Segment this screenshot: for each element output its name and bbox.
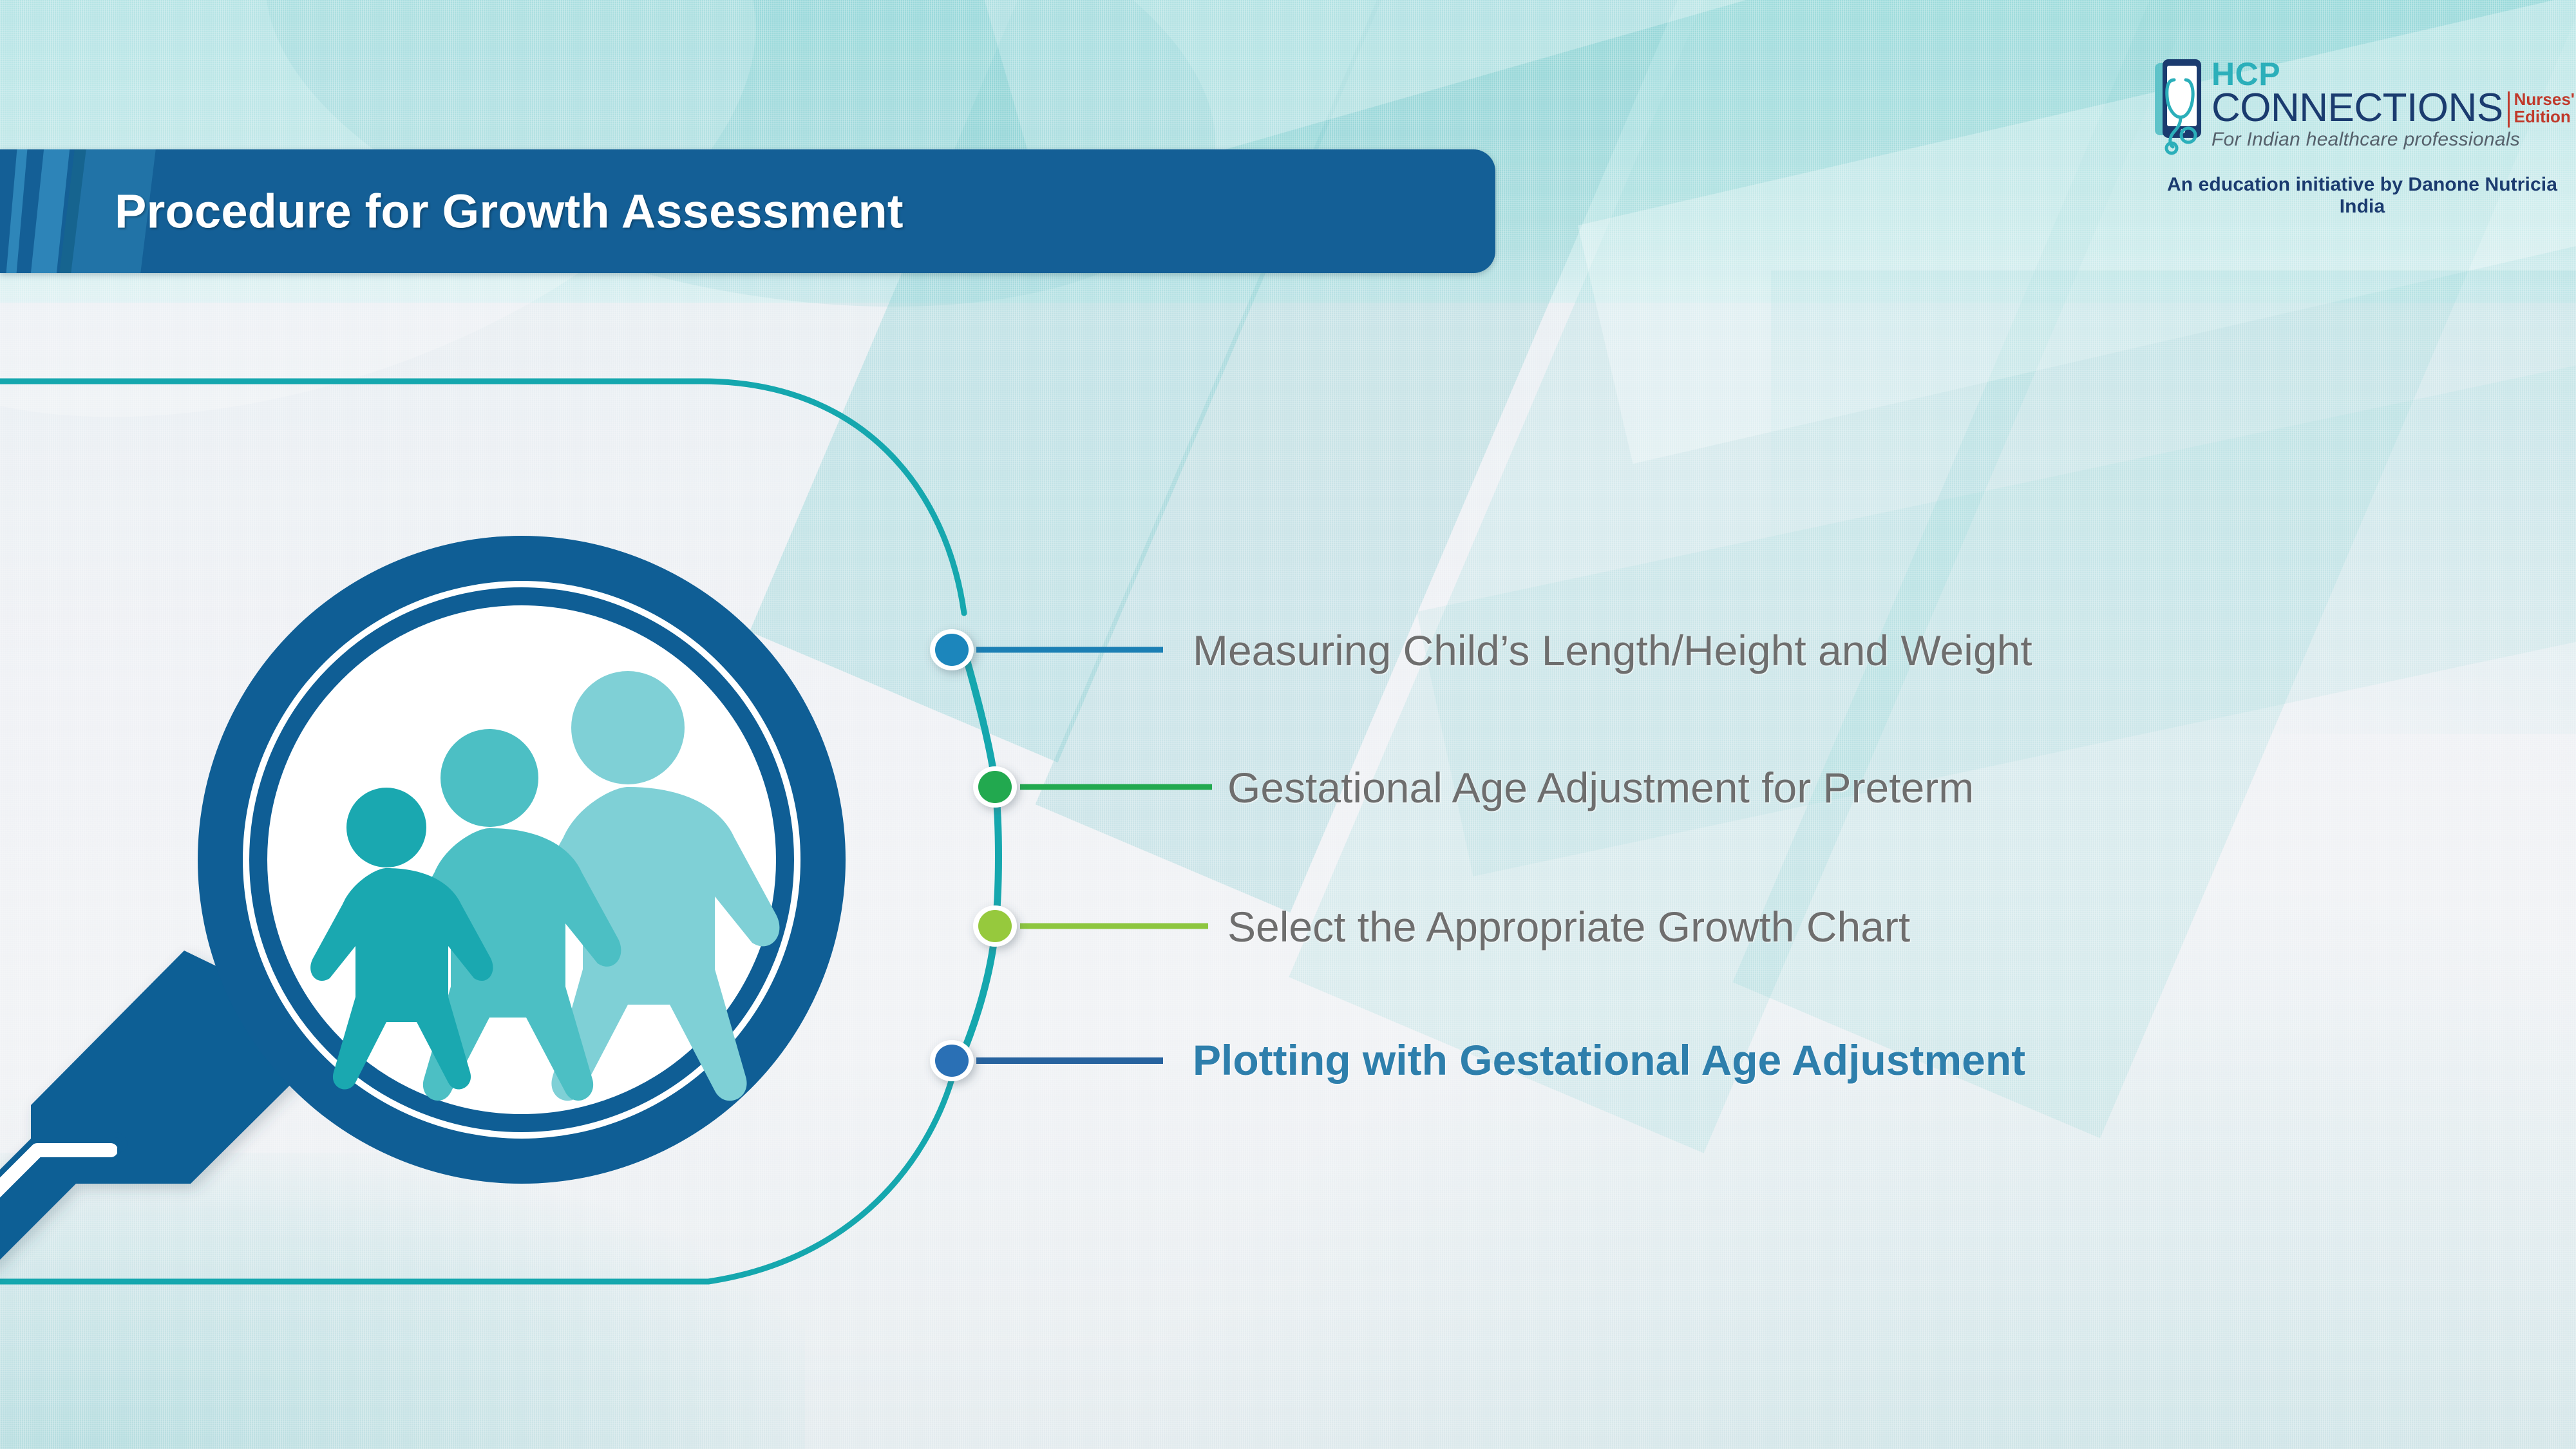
step-label-1[interactable]: Measuring Child’s Length/Height and Weig… [1193, 629, 2032, 672]
step-label-list: Measuring Child’s Length/Height and Weig… [0, 0, 2576, 1449]
step-label-3[interactable]: Select the Appropriate Growth Chart [1227, 905, 1910, 948]
step-label-2[interactable]: Gestational Age Adjustment for Preterm [1227, 766, 1974, 809]
slide-canvas: Procedure for Growth Assessment HCP CON [0, 0, 2576, 1449]
step-label-4[interactable]: Plotting with Gestational Age Adjustment [1193, 1039, 2025, 1081]
